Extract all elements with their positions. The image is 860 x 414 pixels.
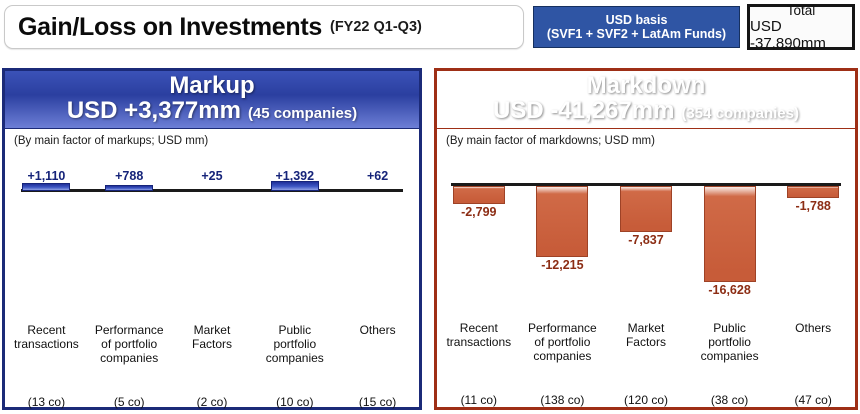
bar-column: +1,392: [253, 147, 336, 337]
company-count-label: (15 co): [336, 395, 419, 409]
markup-companies: (45 companies): [248, 101, 357, 126]
category-label: Others: [771, 321, 855, 363]
markup-note: (By main factor of markups; USD mm): [5, 129, 419, 147]
markdown-title: Markdown: [587, 73, 706, 98]
bar-column: -16,628: [688, 147, 772, 337]
markdown-note: (By main factor of markdowns; USD mm): [437, 129, 855, 147]
markup-amount: USD +3,377mm: [67, 98, 241, 123]
markdown-count-labels: (11 co)(138 co)(120 co)(38 co)(47 co): [437, 393, 855, 407]
bar-value-label: -16,628: [688, 283, 772, 297]
page-title-period: (FY22 Q1-Q3): [330, 19, 422, 35]
category-label: Publicportfoliocompanies: [253, 323, 336, 365]
bar-column: +62: [336, 147, 419, 337]
bar: [620, 186, 672, 232]
bar: [787, 186, 839, 198]
bar-value-label: +1,392: [253, 169, 336, 183]
usd-basis-line2: (SVF1 + SVF2 + LatAm Funds): [547, 27, 726, 41]
markdown-panel-header: Markdown USD -41,267mm (354 companies): [437, 71, 855, 129]
company-count-label: (38 co): [688, 393, 772, 407]
markup-title: Markup: [169, 73, 254, 98]
category-label: Performanceof portfoliocompanies: [521, 321, 605, 363]
markdown-panel: Markdown USD -41,267mm (354 companies) (…: [434, 68, 858, 410]
bar-column: +788: [88, 147, 171, 337]
bar: [453, 186, 505, 204]
total-label: Total: [787, 3, 816, 18]
company-count-label: (120 co): [604, 393, 688, 407]
page-title-text: Gain/Loss on Investments: [18, 13, 322, 42]
bar: [22, 183, 70, 191]
bar-column: -1,788: [771, 147, 855, 337]
category-label: Recenttransactions: [5, 323, 88, 365]
bar-value-label: -7,837: [604, 233, 688, 247]
company-count-label: (47 co): [771, 393, 855, 407]
bar-value-label: +25: [171, 169, 254, 183]
bar-column: +25: [171, 147, 254, 337]
slide-header: Gain/Loss on Investments (FY22 Q1-Q3) US…: [0, 0, 860, 60]
markdown-category-labels: RecenttransactionsPerformanceof portfoli…: [437, 321, 855, 363]
bar-column: -12,215: [521, 147, 605, 337]
bar-value-label: +1,110: [5, 169, 88, 183]
bar: [536, 186, 588, 257]
category-label: MarketFactors: [171, 323, 254, 365]
bar-value-label: +788: [88, 169, 171, 183]
company-count-label: (13 co): [5, 395, 88, 409]
category-label: Publicportfoliocompanies: [688, 321, 772, 363]
markup-category-labels: RecenttransactionsPerformanceof portfoli…: [5, 323, 419, 365]
markdown-companies: (354 companies): [681, 101, 799, 126]
company-count-label: (10 co): [253, 395, 336, 409]
company-count-label: (2 co): [171, 395, 254, 409]
markup-count-labels: (13 co)(5 co)(2 co)(10 co)(15 co): [5, 395, 419, 409]
markup-bar-columns: +1,110+788+25+1,392+62: [5, 147, 419, 337]
bar-value-label: -2,799: [437, 205, 521, 219]
total-badge: Total USD -37,890mm: [747, 4, 855, 50]
bar-column: +1,110: [5, 147, 88, 337]
category-label: Recenttransactions: [437, 321, 521, 363]
page-title: Gain/Loss on Investments (FY22 Q1-Q3): [4, 5, 524, 49]
bar: [105, 185, 153, 191]
bar-value-label: -12,215: [521, 258, 605, 272]
markdown-chart: -2,799-12,215-7,837-16,628-1,788: [437, 147, 855, 337]
bar: [704, 186, 756, 282]
bar-value-label: +62: [336, 169, 419, 183]
company-count-label: (138 co): [521, 393, 605, 407]
bar-column: -2,799: [437, 147, 521, 337]
usd-basis-line1: USD basis: [606, 14, 668, 27]
company-count-label: (5 co): [88, 395, 171, 409]
total-value: USD -37,890mm: [750, 18, 852, 52]
markdown-amount: USD -41,267mm: [493, 98, 674, 123]
category-label: Others: [336, 323, 419, 365]
markup-panel-header: Markup USD +3,377mm (45 companies): [5, 71, 419, 129]
markup-chart: +1,110+788+25+1,392+62: [5, 147, 419, 337]
usd-basis-badge: USD basis (SVF1 + SVF2 + LatAm Funds): [533, 6, 740, 48]
category-label: Performanceof portfoliocompanies: [88, 323, 171, 365]
company-count-label: (11 co): [437, 393, 521, 407]
markdown-bar-columns: -2,799-12,215-7,837-16,628-1,788: [437, 147, 855, 337]
markup-panel: Markup USD +3,377mm (45 companies) (By m…: [2, 68, 422, 410]
bar-value-label: -1,788: [771, 199, 855, 213]
category-label: MarketFactors: [604, 321, 688, 363]
bar-column: -7,837: [604, 147, 688, 337]
